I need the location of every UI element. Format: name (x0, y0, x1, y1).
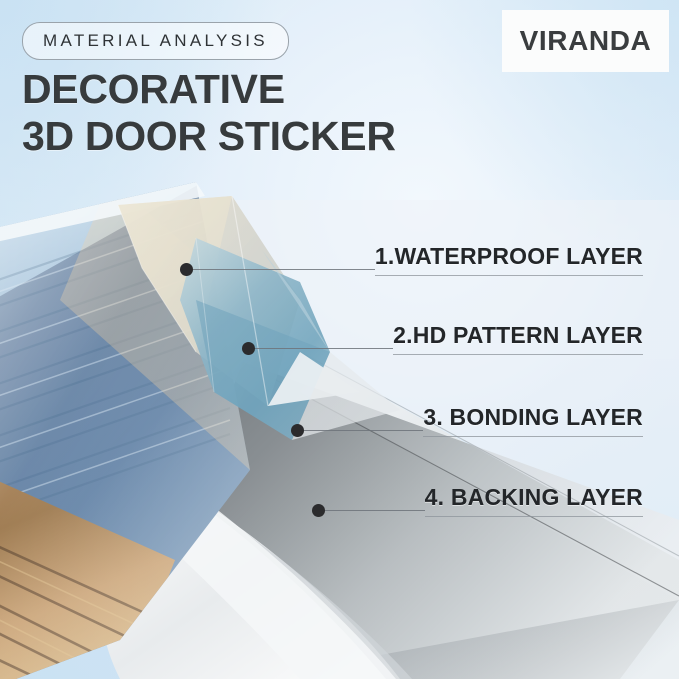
callout-leader-line-4 (324, 510, 425, 511)
callout-leader-line-1 (192, 269, 375, 270)
badge-label: MATERIAL ANALYSIS (43, 31, 268, 51)
callout-label-text-3: 3. BONDING LAYER (423, 404, 643, 436)
callout-label-2: 2.HD PATTERN LAYER (393, 322, 643, 354)
callout-dot-3 (291, 424, 304, 437)
poster-canvas: MATERIAL ANALYSIS DECORATIVE 3D DOOR STI… (0, 0, 679, 679)
title-line-1: DECORATIVE (22, 66, 285, 112)
callout-label-text-1: 1.WATERPROOF LAYER (375, 243, 643, 275)
callout-underline-3 (423, 436, 643, 437)
callout-leader-line-3 (303, 430, 423, 431)
title-line-2: 3D DOOR STICKER (22, 113, 396, 160)
callout-dot-1 (180, 263, 193, 276)
callout-leader-line-2 (254, 348, 393, 349)
callout-label-text-2: 2.HD PATTERN LAYER (393, 322, 643, 354)
callout-label-3: 3. BONDING LAYER (423, 404, 643, 436)
brand-logo: VIRANDA (502, 10, 669, 72)
page-title: DECORATIVE 3D DOOR STICKER (22, 66, 396, 160)
brand-name: VIRANDA (520, 25, 652, 57)
callout-dot-2 (242, 342, 255, 355)
callout-dot-4 (312, 504, 325, 517)
callout-label-4: 4. BACKING LAYER (425, 484, 643, 516)
callout-label-1: 1.WATERPROOF LAYER (375, 243, 643, 275)
material-analysis-badge: MATERIAL ANALYSIS (22, 22, 289, 60)
callout-underline-2 (393, 354, 643, 355)
callout-underline-1 (375, 275, 643, 276)
callout-underline-4 (425, 516, 643, 517)
callout-label-text-4: 4. BACKING LAYER (425, 484, 643, 516)
